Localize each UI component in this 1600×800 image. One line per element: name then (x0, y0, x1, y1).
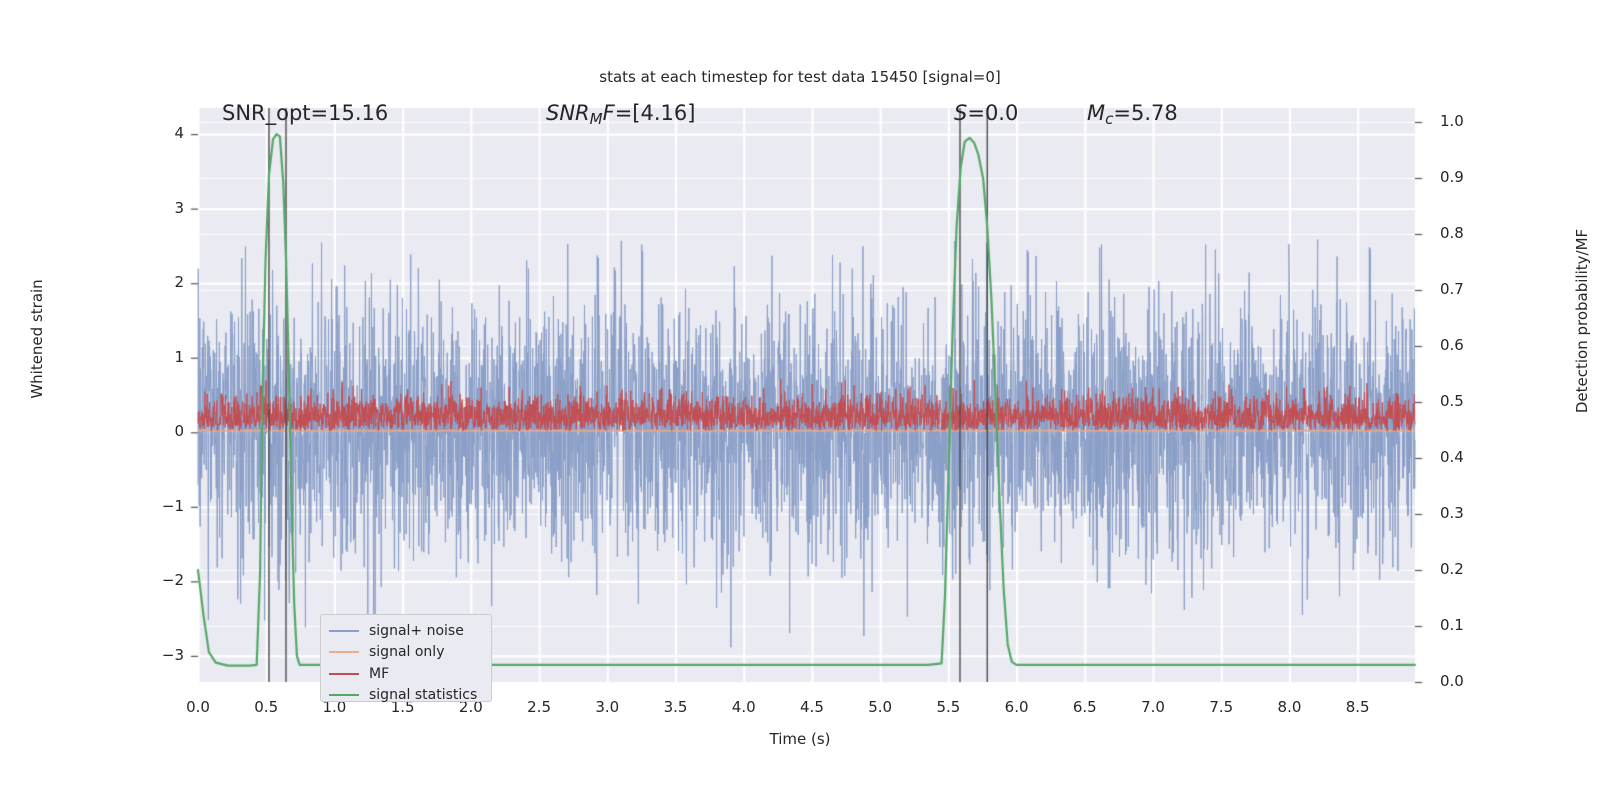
annotation-snr-mf: SNRMF=[4.16] (546, 101, 695, 128)
legend-item-2[interactable]: MF (329, 663, 483, 685)
annotation-s: S=0.0 (954, 101, 1018, 125)
x-tick-15: 7.5 (1191, 698, 1251, 716)
annotation-s-label: S (954, 101, 967, 125)
annotation-mc: Mc=5.78 (1087, 101, 1178, 128)
chart-title: stats at each timestep for test data 154… (0, 68, 1600, 86)
annotation-snr-opt-value: 15.16 (328, 101, 388, 125)
figure-container: stats at each timestep for test data 154… (0, 0, 1600, 800)
y-tick-left-1: 3 (140, 199, 184, 217)
legend-swatch-icon (329, 630, 359, 632)
annotation-snr-mf-label: SNR (546, 101, 590, 125)
x-tick-10: 5.0 (850, 698, 910, 716)
y-tick-right-5: 0.5 (1440, 392, 1490, 410)
annotation-mc-label: M (1087, 101, 1105, 125)
x-tick-0: 0.0 (168, 698, 228, 716)
legend-swatch-icon (329, 694, 359, 696)
y-tick-right-4: 0.6 (1440, 336, 1490, 354)
y-axis-label-left: Whitened strain (28, 239, 46, 439)
y-axis-label-right: Detection probability/MF (1573, 191, 1591, 451)
legend-label: MF (369, 667, 389, 681)
x-tick-11: 5.5 (918, 698, 978, 716)
legend-item-3[interactable]: signal statistics (329, 685, 483, 707)
legend-label: signal+ noise (369, 624, 464, 638)
legend-label: signal statistics (369, 688, 477, 702)
legend-label: signal only (369, 645, 444, 659)
y-tick-left-3: 1 (140, 348, 184, 366)
x-tick-8: 4.0 (714, 698, 774, 716)
y-tick-right-9: 0.1 (1440, 616, 1490, 634)
annotation-snr-mf-label2: F (603, 101, 615, 125)
y-tick-left-6: −2 (140, 571, 184, 589)
x-tick-12: 6.0 (987, 698, 1047, 716)
y-tick-right-6: 0.4 (1440, 448, 1490, 466)
annotation-snr-opt-label: SNR_opt= (222, 101, 328, 125)
legend-item-0[interactable]: signal+ noise (329, 620, 483, 642)
x-tick-13: 6.5 (1055, 698, 1115, 716)
x-tick-5: 2.5 (509, 698, 569, 716)
legend-swatch-icon (329, 651, 359, 653)
x-axis-label: Time (s) (0, 730, 1600, 748)
y-tick-left-2: 2 (140, 273, 184, 291)
y-tick-right-8: 0.2 (1440, 560, 1490, 578)
y-tick-right-0: 1.0 (1440, 112, 1490, 130)
annotation-snr-mf-value: =[4.16] (615, 101, 696, 125)
y-tick-right-1: 0.9 (1440, 168, 1490, 186)
legend-item-1[interactable]: signal only (329, 642, 483, 664)
annotation-snr-mf-subscript: M (590, 110, 603, 128)
y-tick-right-2: 0.8 (1440, 224, 1490, 242)
x-tick-9: 4.5 (782, 698, 842, 716)
x-tick-14: 7.0 (1123, 698, 1183, 716)
x-tick-17: 8.5 (1328, 698, 1388, 716)
annotation-snr-opt: SNR_opt=15.16 (222, 101, 388, 125)
x-tick-6: 3.0 (577, 698, 637, 716)
y-tick-right-7: 0.3 (1440, 504, 1490, 522)
legend-swatch-icon (329, 673, 359, 675)
x-tick-16: 8.0 (1259, 698, 1319, 716)
legend: signal+ noisesignal onlyMFsignal statist… (320, 614, 492, 702)
y-tick-left-4: 0 (140, 422, 184, 440)
x-tick-7: 3.5 (646, 698, 706, 716)
y-tick-left-7: −3 (140, 646, 184, 664)
x-tick-1: 0.5 (236, 698, 296, 716)
y-tick-right-3: 0.7 (1440, 280, 1490, 298)
annotation-s-value: =0.0 (967, 101, 1018, 125)
y-tick-left-5: −1 (140, 497, 184, 515)
y-tick-right-10: 0.0 (1440, 672, 1490, 690)
annotation-mc-value: =5.78 (1113, 101, 1177, 125)
y-tick-left-0: 4 (140, 124, 184, 142)
